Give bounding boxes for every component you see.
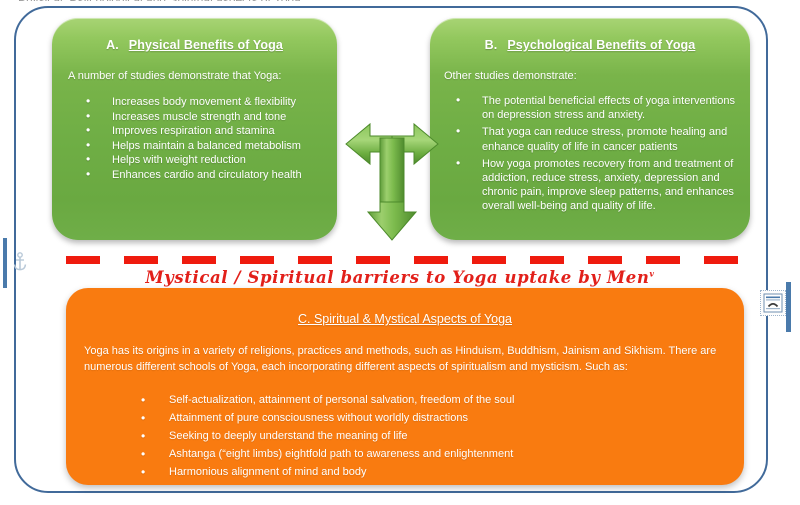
list-item: Increases body movement & flexibility — [86, 96, 323, 110]
physical-benefits-box[interactable]: A.Physical Benefits of Yoga A number of … — [52, 18, 337, 240]
list-item: Enhances cardio and circulatory health — [86, 169, 323, 183]
red-dashed-divider — [66, 256, 744, 264]
box-c-bullet-list: Self-actualization, attainment of person… — [66, 391, 744, 481]
box-b-title: B.Psychological Benefits of Yoga — [430, 38, 750, 52]
list-item: How yoga promotes recovery from and trea… — [456, 157, 736, 214]
layout-options-icon[interactable] — [760, 290, 786, 316]
box-b-title-text: Psychological Benefits of Yoga — [507, 38, 695, 52]
page-top-text-sliver: Physical, Psychological and Spiritual as… — [18, 0, 438, 1]
box-a-title-text: Physical Benefits of Yoga — [129, 38, 283, 52]
box-a-bullet-list: Increases body movement & flexibility In… — [52, 96, 337, 183]
list-item: Attainment of pure consciousness without… — [141, 409, 744, 427]
list-item: The potential beneficial effects of yoga… — [456, 94, 736, 122]
box-b-bullet-list: The potential beneficial effects of yoga… — [430, 94, 750, 214]
list-item: Improves respiration and stamina — [86, 125, 323, 139]
box-a-intro: A number of studies demonstrate that Yog… — [68, 70, 337, 82]
box-b-intro: Other studies demonstrate: — [444, 70, 750, 82]
list-item: Increases muscle strength and tone — [86, 111, 323, 125]
list-item: Self-actualization, attainment of person… — [141, 391, 744, 409]
caption-text: Mystical / Spiritual barriers to Yoga up… — [145, 268, 649, 287]
list-item: That yoga can reduce stress, promote hea… — [456, 125, 736, 153]
psychological-benefits-box[interactable]: B.Psychological Benefits of Yoga Other s… — [430, 18, 750, 240]
anchor-icon[interactable] — [12, 252, 28, 272]
box-c-paragraph: Yoga has its origins in a variety of rel… — [84, 343, 722, 375]
box-a-title: A.Physical Benefits of Yoga — [52, 38, 337, 52]
mystical-barriers-caption: Mystical / Spiritual barriers to Yoga up… — [120, 268, 680, 287]
left-margin-blue-bar — [3, 238, 7, 288]
list-item: Helps with weight reduction — [86, 154, 323, 168]
caption-superscript: v — [649, 269, 654, 279]
right-margin-blue-bar — [786, 282, 791, 332]
box-c-title: C. Spiritual & Mystical Aspects of Yoga — [66, 312, 744, 326]
box-a-letter: A. — [106, 38, 119, 52]
list-item: Helps maintain a balanced metabolism — [86, 140, 323, 154]
box-b-letter: B. — [485, 38, 498, 52]
list-item: Seeking to deeply understand the meaning… — [141, 427, 744, 445]
spiritual-aspects-box[interactable]: C. Spiritual & Mystical Aspects of Yoga … — [66, 288, 744, 485]
three-way-arrow-icon — [344, 118, 440, 243]
list-item: Ashtanga (“eight limbs) eightfold path t… — [141, 445, 744, 463]
list-item: Harmonious alignment of mind and body — [141, 463, 744, 481]
